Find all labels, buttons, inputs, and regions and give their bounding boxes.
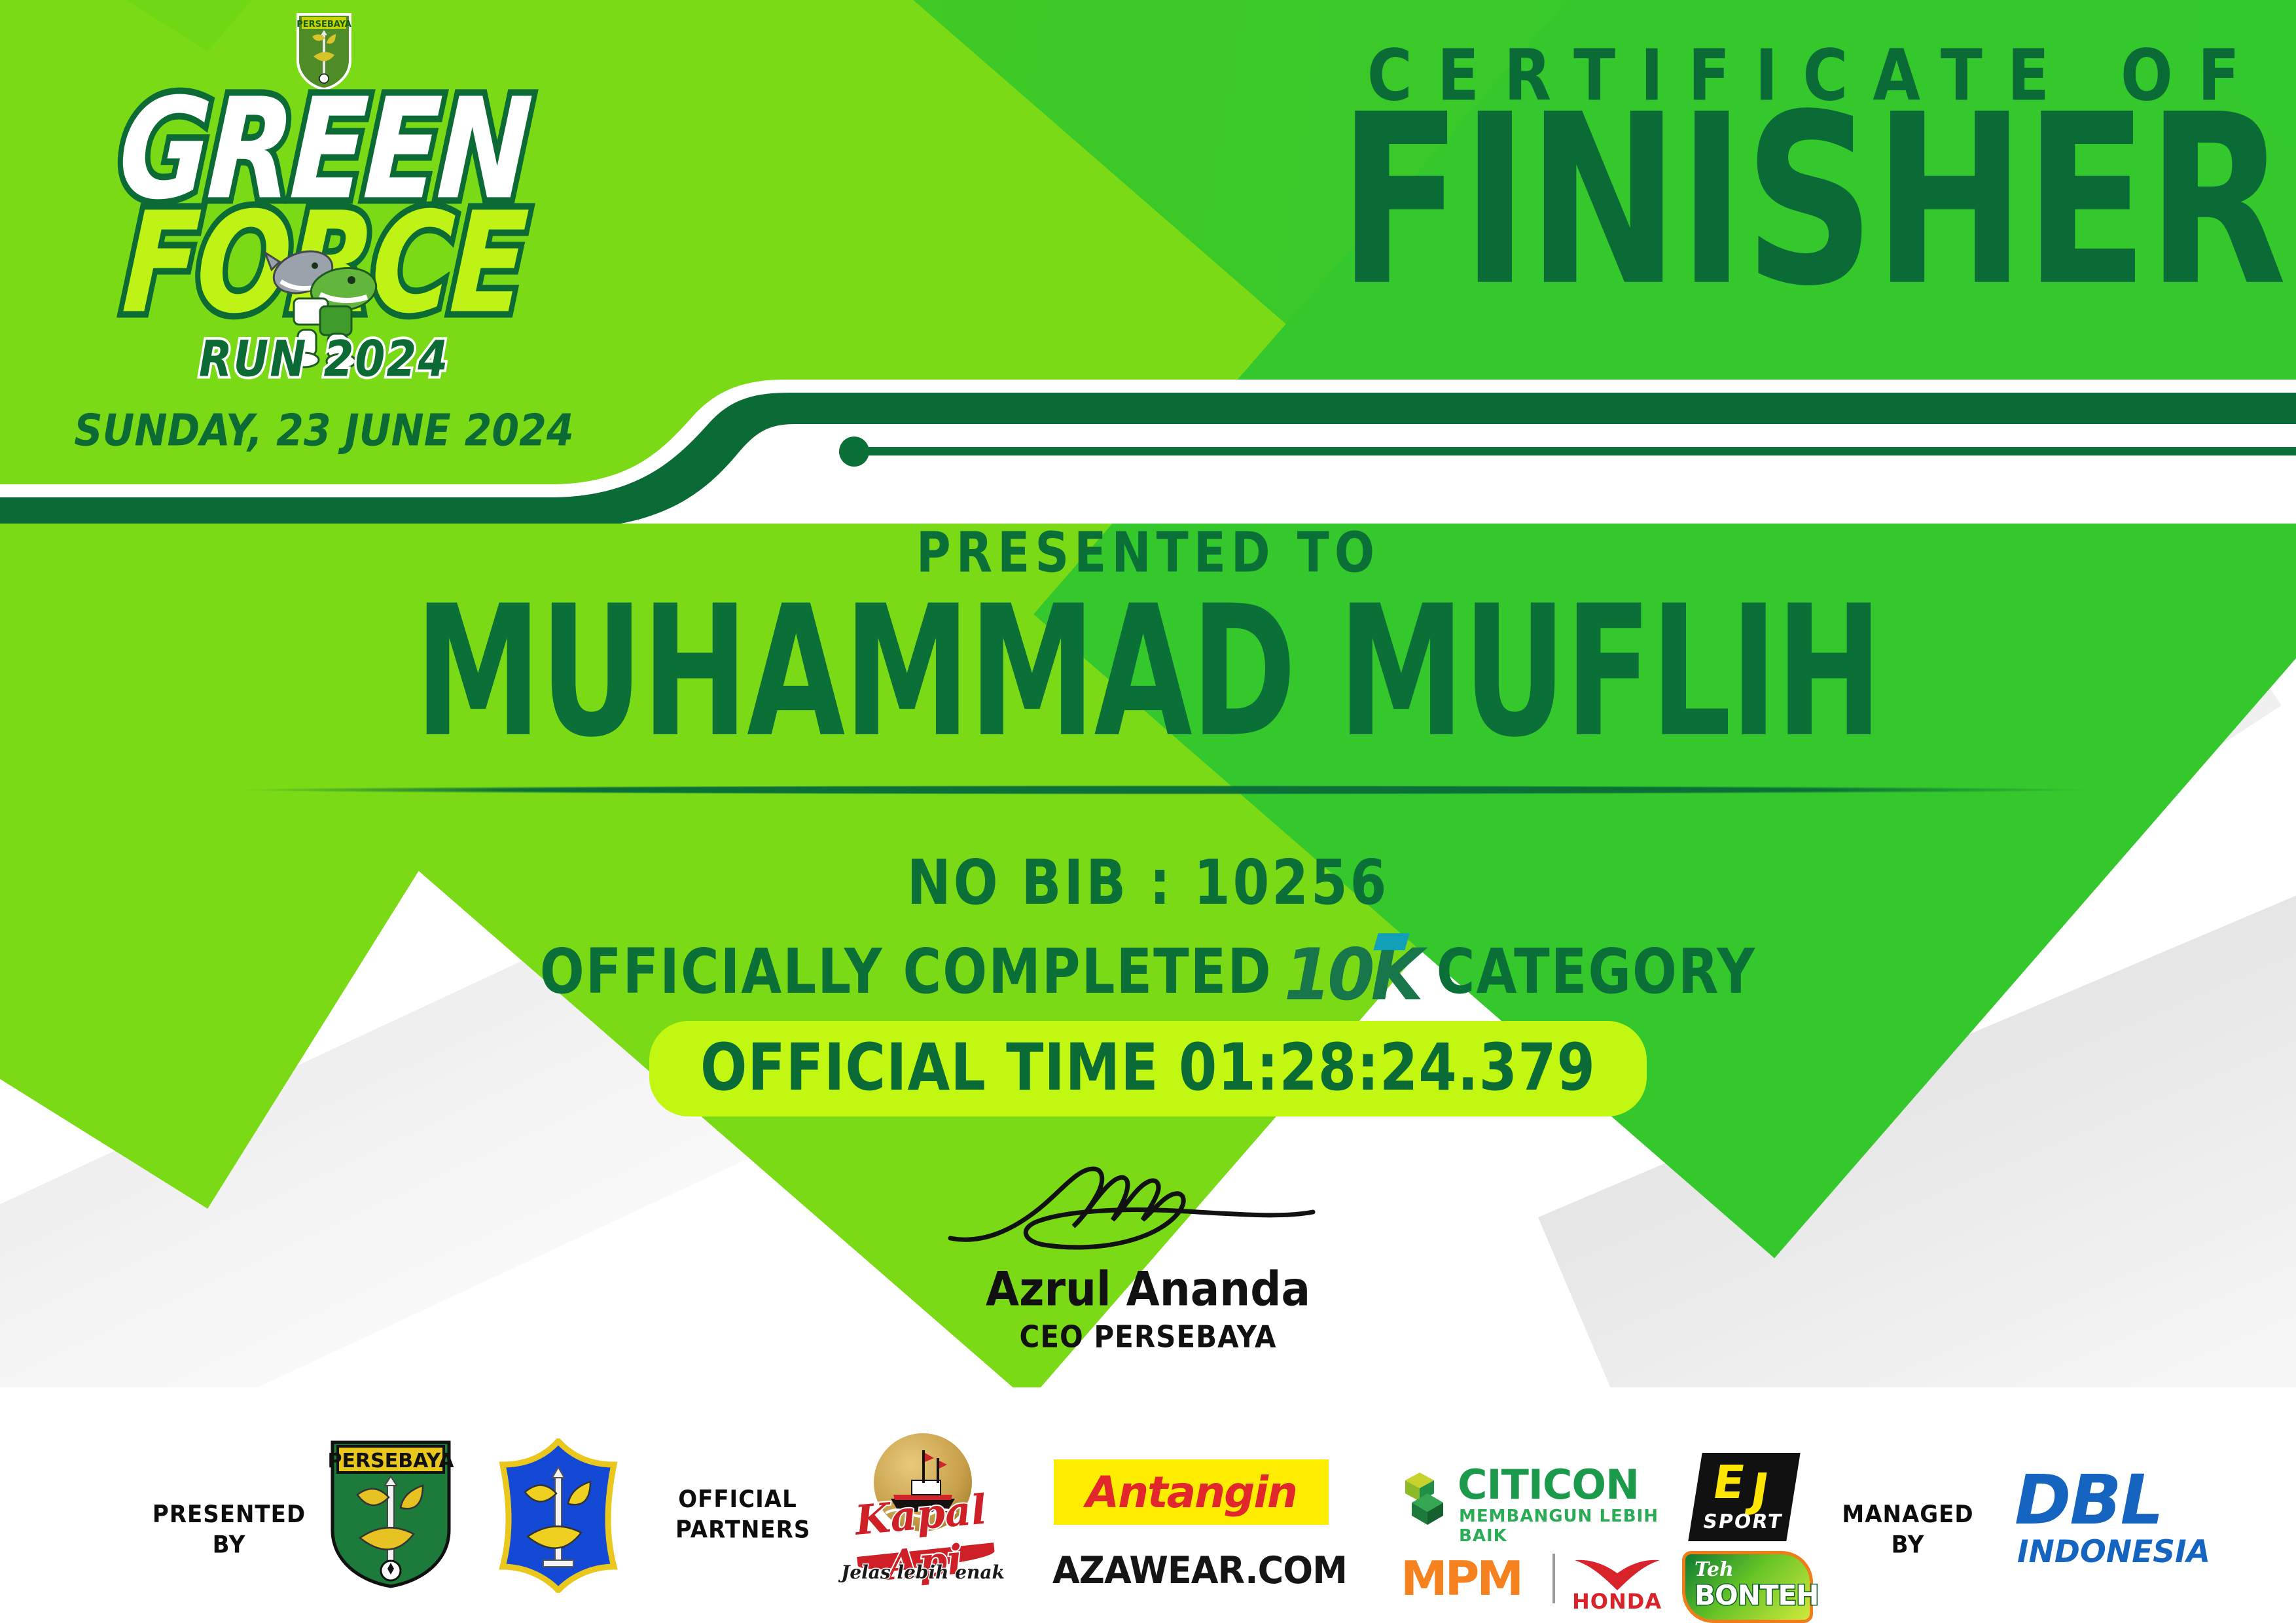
ej-sport-logo: E J SPORT bbox=[1688, 1453, 1800, 1541]
recipient-name: MUHAMMAD MUFLIH bbox=[35, 582, 2262, 763]
citicon-tagline: MEMBANGUN LEBIH BAIK bbox=[1459, 1507, 1659, 1546]
dbl-name: DBL bbox=[2015, 1466, 2162, 1534]
event-date: SUNDAY, 23 JUNE 2024 bbox=[36, 405, 612, 456]
certificate-canvas: PERSEBAYA GREEN FORCE bbox=[0, 0, 2296, 1623]
official-time-badge: OFFICIAL TIME 01:28:24.379 bbox=[649, 1021, 1647, 1116]
teh-bonteh-logo: Teh BONTEH bbox=[1682, 1551, 1813, 1623]
kapal-api-logo: Kapal Api Jelas lebih enak bbox=[838, 1433, 1008, 1603]
category-suffix: CATEGORY bbox=[1437, 935, 1756, 1007]
ej-letter-e: E bbox=[1710, 1459, 1748, 1505]
event-logo-lockup: PERSEBAYA GREEN FORCE bbox=[36, 12, 612, 470]
header-rule-line bbox=[864, 447, 2296, 455]
bonteh-teh-word: Teh bbox=[1695, 1558, 1734, 1581]
ej-letter-j: J bbox=[1748, 1467, 1772, 1513]
surabaya-city-crest-icon bbox=[497, 1438, 619, 1593]
citicon-name: CITICON bbox=[1458, 1461, 1639, 1508]
honda-name: HONDA bbox=[1572, 1589, 1662, 1614]
sponsor-footer: PRESENTED BY PERSEBAYA bbox=[0, 1387, 2296, 1623]
ej-sport-word: SPORT bbox=[1701, 1510, 1784, 1533]
signature-block: Azrul Ananda CEO PERSEBAYA bbox=[853, 1158, 1443, 1353]
certificate-body: PRESENTED TO MUHAMMAD MUFLIH NO BIB : 10… bbox=[0, 497, 2296, 1387]
honda-wing-icon bbox=[1568, 1555, 1666, 1593]
finisher-title: FINISHER bbox=[1338, 84, 2286, 319]
signatory-role: CEO PERSEBAYA bbox=[853, 1319, 1443, 1355]
managed-by-label: MANAGED BY bbox=[1826, 1500, 1990, 1560]
dbl-indonesia-logo: DBL INDONESIA bbox=[2015, 1466, 2237, 1571]
signatory-name: Azrul Ananda bbox=[853, 1261, 1443, 1317]
antangin-logo: Antangin bbox=[1054, 1459, 1329, 1525]
bib-number: NO BIB : 10256 bbox=[0, 847, 2296, 919]
ten-k-logo-icon: 10K bbox=[1284, 936, 1425, 1007]
category-line: OFFICIALLY COMPLETED 10K CATEGORY bbox=[0, 936, 2296, 1007]
category-prefix: OFFICIALLY COMPLETED bbox=[540, 935, 1272, 1007]
citicon-logo: CITICON MEMBANGUN LEBIH BAIK bbox=[1397, 1461, 1659, 1533]
logo-word-run-year: RUN 2024 bbox=[36, 330, 612, 388]
ten-k-accent-mark bbox=[1373, 933, 1409, 950]
official-time-text: OFFICIAL TIME 01:28:24.379 bbox=[700, 1029, 1596, 1105]
kapal-api-tagline: Jelas lebih enak bbox=[838, 1561, 1008, 1583]
mpm-name: MPM bbox=[1401, 1551, 1521, 1606]
persebaya-crest-icon: PERSEBAYA bbox=[326, 1438, 456, 1589]
mpm-honda-logo: MPM HONDA bbox=[1401, 1551, 1676, 1611]
green-force-wordmark: GREEN FORCE RUN 2024 bbox=[36, 98, 612, 372]
signature-icon bbox=[939, 1158, 1357, 1257]
official-partners-label: OFFICIAL PARTNERS bbox=[675, 1485, 800, 1545]
bonteh-name: BONTEH bbox=[1695, 1579, 1818, 1611]
crest-text: PERSEBAYA bbox=[328, 1450, 455, 1472]
shield-badge-text: PERSEBAYA bbox=[296, 20, 351, 29]
name-divider bbox=[236, 785, 2094, 794]
antangin-name: Antangin bbox=[1086, 1467, 1297, 1518]
azawear-logo: AZAWEAR.COM bbox=[1052, 1548, 1334, 1592]
mpm-divider bbox=[1552, 1554, 1555, 1603]
presented-by-label: PRESENTED BY bbox=[151, 1500, 308, 1560]
citicon-cube-icon bbox=[1397, 1466, 1454, 1526]
dbl-indonesia-word: INDONESIA bbox=[2017, 1534, 2210, 1570]
